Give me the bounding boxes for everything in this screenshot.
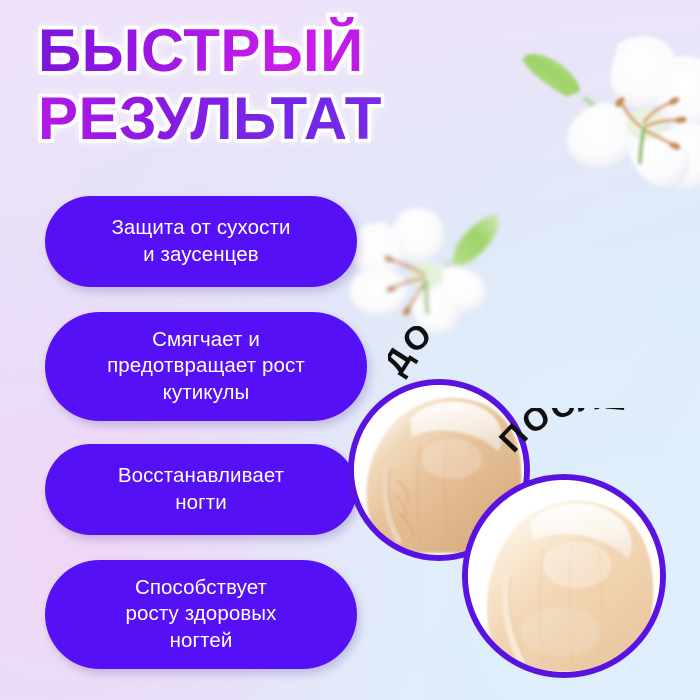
benefit-text-4: Способствуетросту здоровыхногтей — [125, 575, 276, 654]
benefit-pill-1: Защита от сухостии заусенцев — [45, 196, 357, 287]
headline-line-2-fill: РЕЗУЛЬТАТ — [38, 85, 382, 152]
headline-line-1-fill: БЫСТРЫЙ — [38, 17, 364, 84]
benefit-pill-4: Способствуетросту здоровыхногтей — [45, 560, 357, 669]
promo-poster: Защита от сухостии заусенцев Смягчает ип… — [0, 0, 700, 700]
headline-line-1: БЫСТРЫЙ БЫСТРЫЙ — [38, 20, 498, 82]
benefit-text-1: Защита от сухостии заусенцев — [111, 215, 290, 267]
benefit-pill-3: Восстанавливаетногти — [45, 444, 357, 535]
headline: БЫСТРЫЙ БЫСТРЫЙ РЕЗУЛЬТАТ РЕЗУЛЬТАТ — [38, 20, 498, 150]
benefit-pill-2: Смягчает ипредотвращает росткутикулы — [45, 312, 367, 421]
benefit-text-3: Восстанавливаетногти — [118, 463, 284, 515]
after-photo-circle — [462, 474, 666, 678]
nail-after-photo — [468, 480, 660, 672]
headline-line-2: РЕЗУЛЬТАТ РЕЗУЛЬТАТ — [38, 88, 498, 150]
benefit-text-2: Смягчает ипредотвращает росткутикулы — [107, 327, 305, 406]
